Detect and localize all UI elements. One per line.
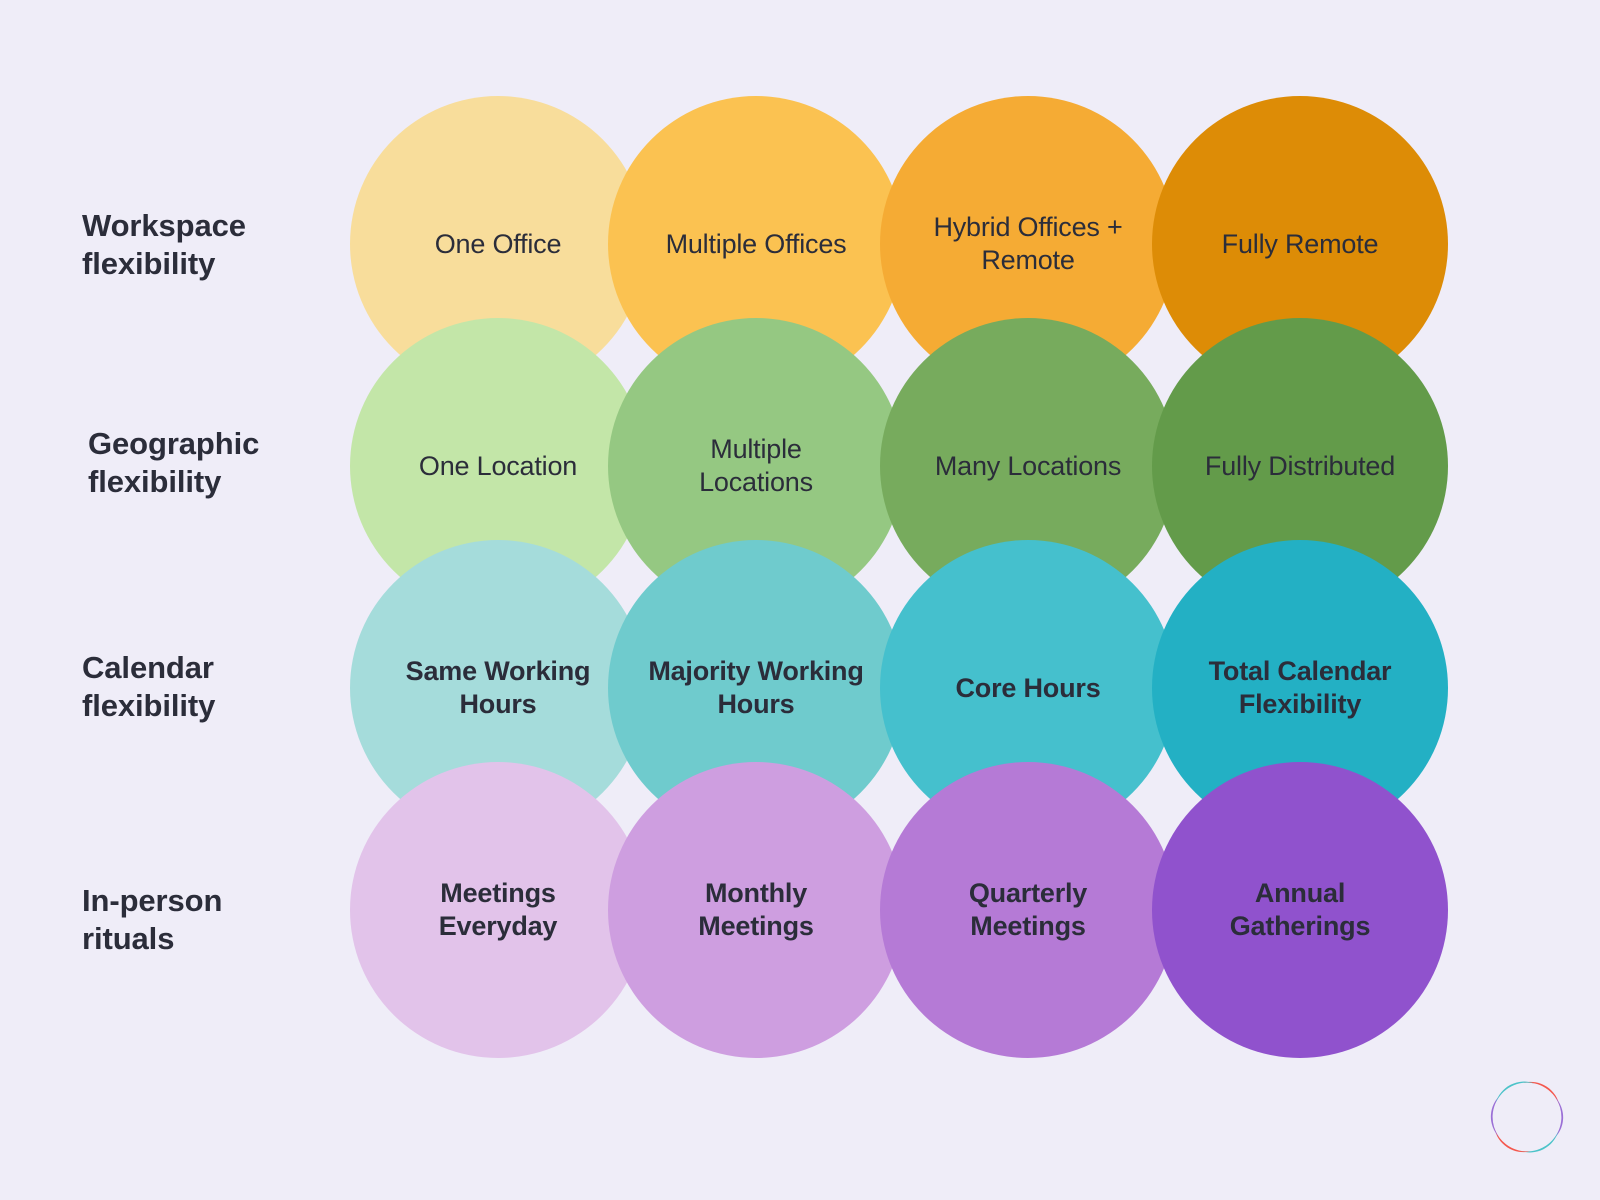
logo-petal: [1496, 1082, 1535, 1103]
cell-label: Hybrid Offices + Remote: [917, 211, 1138, 277]
pinwheel-logo: [1484, 1074, 1570, 1160]
row-label-geographic-flexibility: Geographic flexibility: [88, 425, 259, 502]
cell-label: Annual Gatherings: [1214, 877, 1387, 943]
cell-circle[interactable]: Quarterly Meetings: [880, 762, 1176, 1058]
cell-label: One Office: [419, 228, 578, 261]
cell-circle[interactable]: Annual Gatherings: [1152, 762, 1448, 1058]
cell-label: Meetings Everyday: [423, 877, 574, 943]
cell-label: Total Calendar Flexibility: [1193, 655, 1408, 721]
cell-label: Fully Distributed: [1189, 450, 1411, 483]
row-label-workspace-flexibility: Workspace flexibility: [82, 207, 246, 284]
cell-label: Quarterly Meetings: [953, 877, 1103, 943]
logo-petal: [1494, 1128, 1530, 1152]
diagram-canvas: Workspace flexibility Geographic flexibi…: [0, 0, 1600, 1200]
cell-circle[interactable]: Monthly Meetings: [608, 762, 904, 1058]
cell-label: Core Hours: [939, 672, 1116, 705]
logo-petal: [1523, 1082, 1559, 1106]
cell-circle[interactable]: Meetings Everyday: [350, 762, 646, 1058]
cell-label: Many Locations: [919, 450, 1137, 483]
cell-label: Multiple Offices: [650, 228, 863, 261]
cell-label: Multiple Locations: [683, 433, 829, 499]
row-label-calendar-flexibility: Calendar flexibility: [82, 649, 215, 726]
row-label-in-person-rituals: In-person rituals: [82, 882, 222, 959]
logo-petal: [1491, 1094, 1502, 1137]
logo-petal: [1520, 1131, 1559, 1152]
cell-label: Monthly Meetings: [682, 877, 829, 943]
cell-label: One Location: [403, 450, 593, 483]
cell-label: Majority Working Hours: [632, 655, 879, 721]
logo-petal: [1553, 1097, 1564, 1140]
cell-label: Same Working Hours: [390, 655, 607, 721]
cell-label: Fully Remote: [1206, 228, 1395, 261]
